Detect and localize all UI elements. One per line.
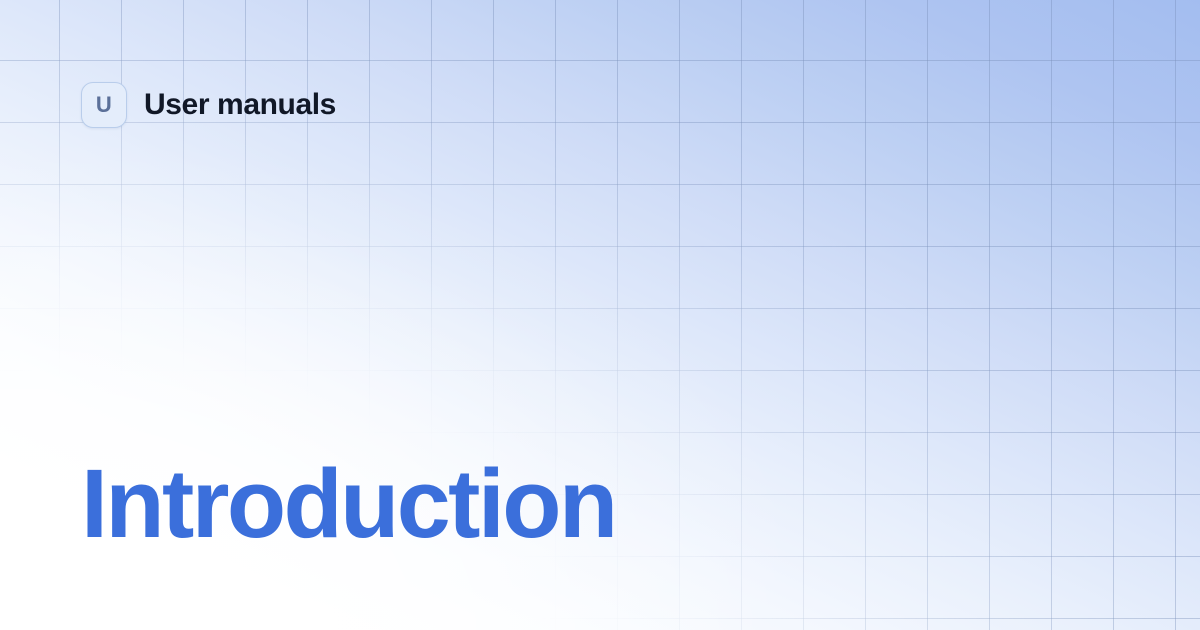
page-title: Introduction bbox=[81, 455, 616, 552]
breadcrumb-label: User manuals bbox=[144, 90, 336, 120]
user-manuals-badge-icon: U bbox=[81, 82, 127, 128]
doc-hero-banner: U User manuals Introduction bbox=[0, 0, 1200, 630]
badge-letter: U bbox=[96, 94, 112, 116]
breadcrumb[interactable]: U User manuals bbox=[81, 82, 336, 128]
